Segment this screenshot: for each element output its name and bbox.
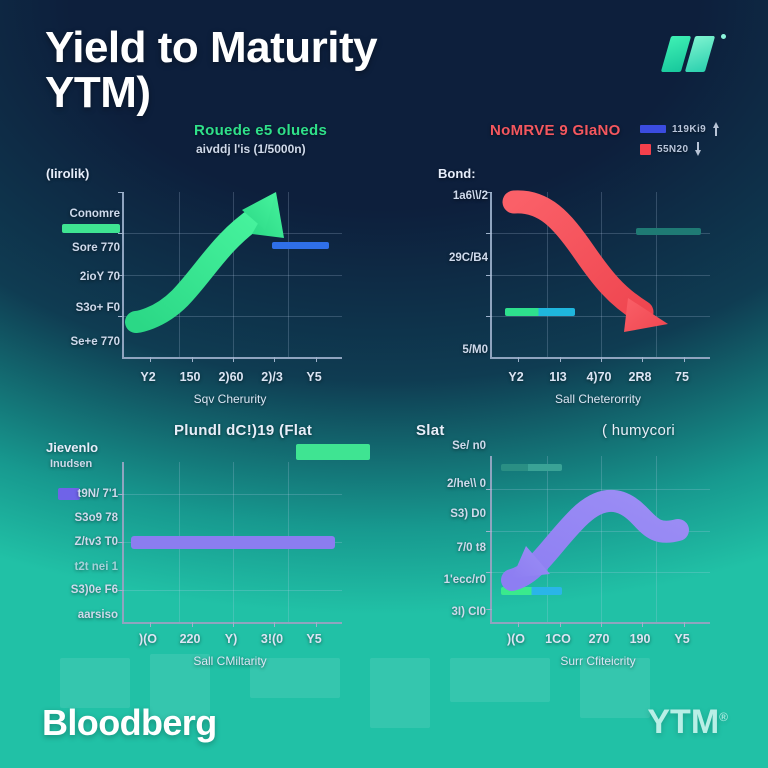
gridline-h <box>124 494 342 495</box>
chart-1-subtitle: aivddj l'is (1/5000n) <box>196 142 306 156</box>
chart-panel-humped-curve: Slat ( humycori <box>412 422 732 672</box>
poster-root: Yield to Maturity YTM) Rouede e5 olueds … <box>0 0 768 768</box>
chart-4-humped-arrow-icon <box>492 452 710 627</box>
chart-4-y-label-0: Se/ n0 <box>416 440 486 452</box>
chart-1-y-label-4: Se+e 770 <box>48 336 120 348</box>
chart-3-y-label-1: S3o9 78 <box>48 512 118 524</box>
chart-2-title: NoMRVE 9 GIaNO <box>490 122 621 139</box>
x-tick <box>316 357 317 362</box>
chart-4-y-label-2: S3) D0 <box>416 508 486 520</box>
chart-3-flat-yield-line <box>131 536 336 549</box>
footer-ytm-mark: YTM® <box>647 703 728 742</box>
chart-3-y-label-2: Z/tv3 T0 <box>48 536 118 548</box>
x-tick <box>233 357 234 362</box>
chart-3-y-label-5: aarsiso <box>48 609 118 621</box>
page-title: Yield to Maturity YTM) <box>45 26 515 116</box>
footer-ytm-text: YTM <box>647 703 719 741</box>
chart-1-rising-arrow-icon <box>124 170 342 345</box>
x-tick <box>150 622 151 627</box>
chart-2-y-label-0: 1a6\\/2 <box>416 190 488 202</box>
chart-3-y-label-4: S3)0e F6 <box>48 584 118 596</box>
chart-3-x-label-3: 3!(0 <box>261 632 283 646</box>
chart-3-y-label-0: t9N/ 7'1 <box>48 488 118 500</box>
chart-1-y-label-2: 2ioY 70 <box>48 271 120 283</box>
chart-4-y-label-3: 7/0 t8 <box>416 542 486 554</box>
y-tick <box>118 494 124 495</box>
x-tick <box>316 622 317 627</box>
chart-panel-inverted-curve: NoMRVE 9 GIaNO 119Ki9 55N20 Bond: <box>412 120 732 410</box>
chart-2-x-label-1: 1I3 <box>549 370 566 384</box>
chart-3-plot-area <box>122 462 342 624</box>
chart-4-x-label-2: 270 <box>589 632 610 646</box>
chart-1-x-axis-title: Sqv Cherurity <box>194 392 267 406</box>
chart-4-x-label-4: Y5 <box>674 632 689 646</box>
chart-3-x-axis-title: Sall CMiltarity <box>193 654 266 668</box>
chart-2-y-label-2: 5/M0 <box>416 344 488 356</box>
chart-3-x-label-1: 220 <box>180 632 201 646</box>
chart-1-blue-reference-bar <box>272 242 329 249</box>
chart-2-x-label-3: 2R8 <box>629 370 652 384</box>
gridline-h <box>124 590 342 591</box>
chart-4-plot-area <box>490 456 710 624</box>
legend-swatch-blue <box>640 125 666 133</box>
x-tick <box>150 357 151 362</box>
x-tick <box>684 357 685 362</box>
chart-4-x-label-0: )(O <box>507 632 525 646</box>
chart-2-falling-arrow-icon <box>492 176 710 351</box>
chart-1-x-label-3: 2)/3 <box>261 370 283 384</box>
chart-2-y-label-1: 29C/B4 <box>416 252 488 264</box>
chart-2-x-label-4: 75 <box>675 370 689 384</box>
chart-3-x-label-2: Y) <box>225 632 238 646</box>
legend-item-1[interactable]: 55N20 <box>640 141 720 157</box>
x-tick <box>274 622 275 627</box>
legend-item-0[interactable]: 119Ki9 <box>640 121 720 137</box>
chart-3-green-title-bar <box>296 444 370 460</box>
chart-1-plot-area <box>122 192 342 359</box>
chart-4-y-label-4: 1'ecc/r0 <box>416 574 486 586</box>
chart-3-y-axis-title: Jievenlo <box>46 440 98 455</box>
chart-1-x-label-4: Y5 <box>306 370 321 384</box>
title-line-1: Yield to Maturity <box>45 26 515 71</box>
chart-1-title: Rouede e5 olueds <box>194 122 327 139</box>
x-tick <box>601 357 602 362</box>
legend-label-1: 55N20 <box>657 144 688 155</box>
up-arrow-icon <box>712 121 720 137</box>
x-tick <box>192 357 193 362</box>
chart-1-green-label-bar <box>62 224 120 233</box>
down-arrow-icon <box>694 141 702 157</box>
chart-4-y-label-5: 3I) CI0 <box>416 606 486 618</box>
y-tick <box>118 542 124 543</box>
chart-panel-normal-curve: Rouede e5 olueds aivddj l'is (1/5000n) (… <box>44 120 364 410</box>
chart-panel-flat-curve: Plundl dC!)19 (Flat Jievenlo Inudsen t9N… <box>44 422 364 672</box>
footer-brand-name: Bloodberg <box>42 702 217 744</box>
brand-logo-icon <box>664 34 726 74</box>
x-tick <box>192 622 193 627</box>
x-tick <box>233 622 234 627</box>
registered-trademark-icon: ® <box>719 710 728 724</box>
chart-4-y-label-1: 2/he\\ 0 <box>416 478 486 490</box>
title-line-2: YTM) <box>45 71 515 116</box>
chart-4-x-axis-title: Surr Cfiteicrity <box>560 654 635 668</box>
chart-2-plot-area <box>490 192 710 359</box>
chart-1-y-label-0: Conomre <box>48 208 120 220</box>
chart-4-x-label-3: 190 <box>630 632 651 646</box>
x-tick <box>274 357 275 362</box>
chart-4-x-label-1: 1CO <box>545 632 571 646</box>
chart-3-title: Plundl dC!)19 (Flat <box>174 422 312 439</box>
chart-3-y-label-3: t2t nei 1 <box>48 561 118 573</box>
x-tick <box>642 357 643 362</box>
chart-2-legend: 119Ki9 55N20 <box>640 121 720 157</box>
legend-label-0: 119Ki9 <box>672 124 706 135</box>
chart-3-y-axis-subtitle: Inudsen <box>50 458 92 470</box>
legend-swatch-red <box>640 144 651 155</box>
chart-1-y-label-1: Sore 770 <box>48 242 120 254</box>
chart-2-x-label-0: Y2 <box>508 370 523 384</box>
logo-dot-icon <box>721 34 726 39</box>
chart-4-title: Slat <box>416 422 445 439</box>
chart-3-x-label-4: Y5 <box>306 632 321 646</box>
chart-1-y-label-3: S3o+ F0 <box>48 302 120 314</box>
chart-4-title-right: ( humycori <box>602 422 675 439</box>
chart-3-x-label-0: )(O <box>139 632 157 646</box>
chart-2-x-axis-title: Sall Cheterorrity <box>555 392 641 406</box>
chart-2-y-axis-title: Bond: <box>438 166 476 181</box>
chart-1-x-label-0: Y2 <box>140 370 155 384</box>
chart-1-x-label-2: 2)60 <box>218 370 243 384</box>
y-tick <box>118 590 124 591</box>
chart-1-y-axis-title: (Iirolik) <box>46 166 89 181</box>
x-tick <box>518 357 519 362</box>
chart-1-x-label-1: 150 <box>180 370 201 384</box>
chart-2-x-label-2: 4)70 <box>586 370 611 384</box>
x-tick <box>560 357 561 362</box>
